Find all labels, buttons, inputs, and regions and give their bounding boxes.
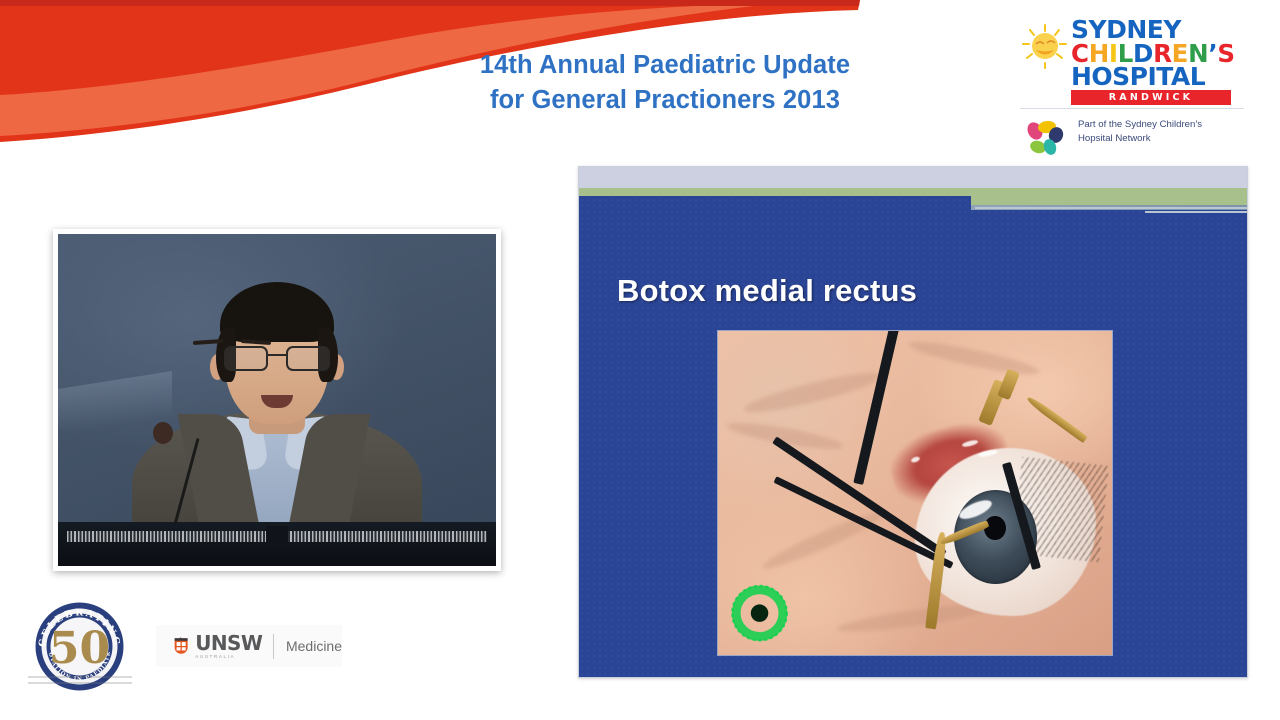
conference-title-line1: 14th Annual Paediatric Update: [480, 51, 850, 79]
speaker-video[interactable]: [53, 229, 501, 571]
unsw-label: UNSW: [195, 633, 262, 653]
lectern: [58, 522, 496, 566]
eye-pupil: [984, 516, 1006, 540]
hospital-logo-line3: HOSPITAL: [1071, 65, 1247, 89]
slide-step-line-1: [975, 207, 1248, 209]
unsw-wordmark: UNSW AUSTRALIA: [195, 633, 262, 659]
badge-subtext-blur: [28, 672, 132, 684]
lens-right: [286, 346, 330, 371]
glasses-icon: [224, 346, 330, 372]
lens-left: [224, 346, 268, 371]
microphone-head: [153, 422, 173, 444]
hospital-logo-banner: RANDWICK: [1071, 90, 1231, 105]
svg-text:50: 50: [49, 623, 110, 674]
presentation-slide[interactable]: Botox medial rectus: [578, 166, 1248, 678]
unsw-faculty-label: Medicine: [286, 638, 342, 654]
speaker-figure: [127, 302, 427, 532]
divider-rule: [1020, 108, 1244, 109]
speaker-video-frame: [58, 234, 496, 566]
lectern-gap: [266, 526, 288, 548]
sydney-childrens-hospital-logo: SYDNEY CHILDREN’S HOSPITAL RANDWICK: [1013, 16, 1245, 108]
conference-title-line2: for General Practioners 2013: [430, 83, 900, 118]
conference-title: 14th Annual Paediatric Update for Genera…: [430, 48, 900, 117]
green-circle-watermark: [730, 584, 789, 642]
unsw-medicine-logo: UNSW AUSTRALIA Medicine: [156, 625, 342, 667]
slide-step-line-2: [1145, 211, 1248, 213]
network-text-line2: Hopsital Network: [1078, 132, 1248, 146]
intraoperative-eye-surgery-photo: [717, 330, 1113, 656]
unsw-crest-icon: [174, 633, 188, 659]
slide-band-green: [579, 188, 1247, 196]
slide-title: Botox medial rectus: [617, 273, 917, 309]
presentation-screenshot: 14th Annual Paediatric Update for Genera…: [0, 0, 1280, 720]
slide-step-green: [971, 196, 1248, 205]
flower-petals-icon: [1022, 118, 1066, 158]
hospital-logo-text: SYDNEY CHILDREN’S HOSPITAL RANDWICK: [1071, 18, 1247, 105]
network-text-line1: Part of the Sydney Children’s: [1078, 118, 1248, 132]
logo-divider: [273, 634, 274, 659]
sun-icon: [1021, 24, 1069, 70]
network-text: Part of the Sydney Children’s Hopsital N…: [1078, 118, 1248, 145]
glasses-bridge: [268, 354, 286, 356]
slide-band-lavender: [579, 167, 1247, 188]
